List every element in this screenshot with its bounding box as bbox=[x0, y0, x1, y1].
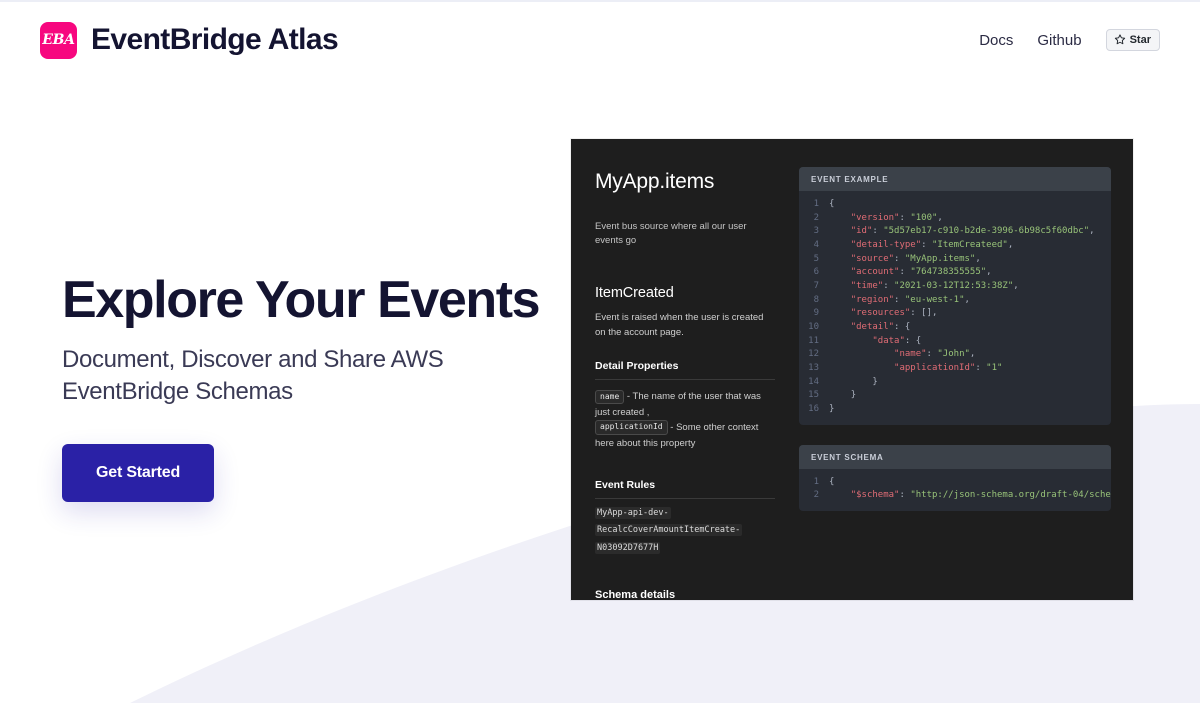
code-line-number: 3 bbox=[799, 225, 829, 239]
star-icon bbox=[1114, 34, 1126, 46]
hero-subtitle: Document, Discover and Share AWS EventBr… bbox=[62, 344, 482, 407]
code-line-number: 8 bbox=[799, 294, 829, 308]
code-line-number: 6 bbox=[799, 266, 829, 280]
screenshot-doc-column: MyApp.items Event bus source where all o… bbox=[571, 139, 799, 600]
code-line-content: "resources": [], bbox=[829, 307, 937, 321]
logo-text: EBA bbox=[42, 33, 74, 47]
code-line-number: 1 bbox=[799, 198, 829, 212]
nav-link-github[interactable]: Github bbox=[1037, 32, 1081, 49]
code-line: 11 "data": { bbox=[799, 335, 1111, 349]
code-line: 8 "region": "eu-west-1", bbox=[799, 294, 1111, 308]
detail-properties-list: name - The name of the user that was jus… bbox=[595, 389, 775, 451]
code-line: 6 "account": "764738355555", bbox=[799, 266, 1111, 280]
get-started-button[interactable]: Get Started bbox=[62, 444, 214, 502]
code-line-number: 15 bbox=[799, 389, 829, 403]
code-line-content: "region": "eu-west-1", bbox=[829, 294, 970, 308]
code-line-number: 2 bbox=[799, 212, 829, 226]
code-line-content: "$schema": "http://json-schema.org/draft… bbox=[829, 489, 1111, 503]
code-line-content: "detail-type": "ItemCreateed", bbox=[829, 239, 1013, 253]
event-example-code: 1{2 "version": "100",3 "id": "5d57eb17-c… bbox=[799, 191, 1111, 425]
code-line: 10 "detail": { bbox=[799, 321, 1111, 335]
hero-title: Explore Your Events bbox=[62, 272, 562, 328]
code-line-number: 1 bbox=[799, 476, 829, 490]
main-nav: Docs Github Star bbox=[979, 29, 1160, 51]
event-schema-card: EVENT SCHEMA 1{2 "$schema": "http://json… bbox=[799, 445, 1111, 511]
product-screenshot-panel: MyApp.items Event bus source where all o… bbox=[571, 139, 1133, 600]
property-chip-name: name bbox=[595, 390, 624, 404]
logo-icon: EBA bbox=[40, 22, 77, 59]
site-title: EventBridge Atlas bbox=[91, 23, 338, 57]
code-line-content: "name": "John", bbox=[829, 348, 975, 362]
code-line-number: 10 bbox=[799, 321, 829, 335]
event-rules-divider bbox=[595, 498, 775, 499]
code-line-content: } bbox=[829, 403, 834, 417]
code-line-number: 16 bbox=[799, 403, 829, 417]
landing-page: EBA EventBridge Atlas Docs Github Star E… bbox=[0, 0, 1200, 703]
event-schema-code: 1{2 "$schema": "http://json-schema.org/d… bbox=[799, 469, 1111, 511]
code-line-number: 13 bbox=[799, 362, 829, 376]
code-line: 16} bbox=[799, 403, 1111, 417]
code-line: 1{ bbox=[799, 476, 1111, 490]
code-line-content: "source": "MyApp.items", bbox=[829, 253, 981, 267]
code-line-content: "applicationId": "1" bbox=[829, 362, 1002, 376]
code-line-content: "id": "5d57eb17-c910-b2de-3996-6b98c5f60… bbox=[829, 225, 1095, 239]
code-line: 3 "id": "5d57eb17-c910-b2de-3996-6b98c5f… bbox=[799, 225, 1111, 239]
code-line-content: "detail": { bbox=[829, 321, 910, 335]
code-line-number: 11 bbox=[799, 335, 829, 349]
code-line-content: } bbox=[829, 389, 856, 403]
code-line: 15 } bbox=[799, 389, 1111, 403]
event-rules-heading: Event Rules bbox=[595, 479, 775, 491]
code-line-number: 4 bbox=[799, 239, 829, 253]
code-line-number: 9 bbox=[799, 307, 829, 321]
code-line: 5 "source": "MyApp.items", bbox=[799, 253, 1111, 267]
github-star-button[interactable]: Star bbox=[1106, 29, 1160, 51]
code-line: 14 } bbox=[799, 376, 1111, 390]
code-line: 1{ bbox=[799, 198, 1111, 212]
code-line: 4 "detail-type": "ItemCreateed", bbox=[799, 239, 1111, 253]
code-line: 7 "time": "2021-03-12T12:53:38Z", bbox=[799, 280, 1111, 294]
code-line-number: 5 bbox=[799, 253, 829, 267]
property-chip-applicationid: applicationId bbox=[595, 420, 668, 434]
event-example-header: EVENT EXAMPLE bbox=[799, 167, 1111, 191]
code-line-content: { bbox=[829, 476, 834, 490]
event-example-card: EVENT EXAMPLE 1{2 "version": "100",3 "id… bbox=[799, 167, 1111, 425]
code-line-number: 7 bbox=[799, 280, 829, 294]
event-description: Event is raised when the user is created… bbox=[595, 310, 775, 341]
code-line-number: 14 bbox=[799, 376, 829, 390]
event-rule-line-2: RecalcCoverAmountItemCreate- bbox=[595, 524, 742, 536]
code-line-content: "data": { bbox=[829, 335, 921, 349]
hero-section: Explore Your Events Document, Discover a… bbox=[62, 272, 562, 502]
code-line-number: 12 bbox=[799, 348, 829, 362]
code-line-content: "account": "764738355555", bbox=[829, 266, 992, 280]
code-line-content: } bbox=[829, 376, 878, 390]
event-name: ItemCreated bbox=[595, 285, 775, 301]
screenshot-code-column: EVENT EXAMPLE 1{2 "version": "100",3 "id… bbox=[799, 139, 1133, 600]
code-line: 9 "resources": [], bbox=[799, 307, 1111, 321]
code-line: 2 "version": "100", bbox=[799, 212, 1111, 226]
nav-link-docs[interactable]: Docs bbox=[979, 32, 1013, 49]
code-line-content: "time": "2021-03-12T12:53:38Z", bbox=[829, 280, 1019, 294]
code-line-content: { bbox=[829, 198, 834, 212]
code-line-number: 2 bbox=[799, 489, 829, 503]
star-button-label: Star bbox=[1130, 35, 1151, 46]
event-rules-list: MyApp-api-dev- RecalcCoverAmountItemCrea… bbox=[595, 505, 775, 557]
event-rule-line-1: MyApp-api-dev- bbox=[595, 507, 671, 519]
source-title: MyApp.items bbox=[595, 169, 775, 194]
code-line: 2 "$schema": "http://json-schema.org/dra… bbox=[799, 489, 1111, 503]
event-rule-line-3: N03092D7677H bbox=[595, 542, 660, 554]
code-line: 13 "applicationId": "1" bbox=[799, 362, 1111, 376]
code-line-content: "version": "100", bbox=[829, 212, 943, 226]
site-header: EBA EventBridge Atlas Docs Github Star bbox=[0, 2, 1200, 78]
source-description: Event bus source where all our user even… bbox=[595, 220, 775, 249]
detail-properties-divider bbox=[595, 379, 775, 380]
event-schema-header: EVENT SCHEMA bbox=[799, 445, 1111, 469]
detail-properties-heading: Detail Properties bbox=[595, 360, 775, 372]
brand[interactable]: EBA EventBridge Atlas bbox=[40, 22, 338, 59]
schema-details-heading: Schema details bbox=[595, 589, 775, 600]
code-line: 12 "name": "John", bbox=[799, 348, 1111, 362]
